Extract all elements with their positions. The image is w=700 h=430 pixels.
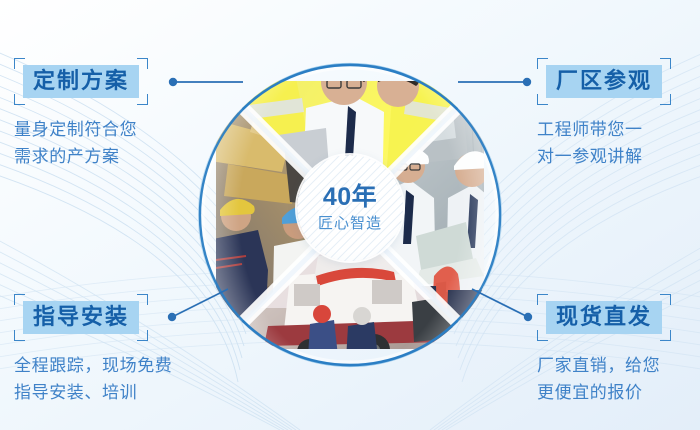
feature-description-line: 量身定制符合您 <box>14 116 148 144</box>
bracket-corner-icon <box>137 294 148 305</box>
feature-title: 厂区参观 <box>556 68 652 93</box>
connector-dot-top-left <box>169 78 177 86</box>
bracket-corner-icon <box>660 58 671 69</box>
feature-description-line: 工程师带您一 <box>537 116 671 144</box>
feature-in-stock-shipping[interactable]: 现货直发 厂家直销，给您 更便宜的报价 <box>537 294 671 407</box>
tag-highlight: 厂区参观 <box>546 65 662 98</box>
bracket-corner-icon <box>660 94 671 105</box>
bracket-corner-icon <box>537 58 548 69</box>
poster-canvas: 40年 匠心智造 定制方案 量身定制符合您 需 <box>0 0 700 430</box>
feature-tag-installation-guidance: 指导安装 <box>14 294 148 341</box>
feature-installation-guidance[interactable]: 指导安装 全程跟踪，现场免费 指导安装、培训 <box>14 294 172 407</box>
feature-description: 全程跟踪，现场免费 指导安装、培训 <box>14 352 172 407</box>
bracket-corner-icon <box>14 58 25 69</box>
feature-custom-solution[interactable]: 定制方案 量身定制符合您 需求的产方案 <box>14 58 148 171</box>
bracket-corner-icon <box>137 94 148 105</box>
bracket-corner-icon <box>660 330 671 341</box>
bracket-corner-icon <box>14 94 25 105</box>
connector-dot-top-right <box>523 78 531 86</box>
bracket-corner-icon <box>137 330 148 341</box>
connector-line-bottom-left <box>172 289 228 317</box>
feature-description: 量身定制符合您 需求的产方案 <box>14 116 148 171</box>
feature-description-line: 指导安装、培训 <box>14 379 172 407</box>
feature-description: 工程师带您一 对一参观讲解 <box>537 116 671 171</box>
bracket-corner-icon <box>14 330 25 341</box>
bracket-corner-icon <box>660 294 671 305</box>
tag-highlight: 定制方案 <box>23 65 139 98</box>
feature-description-line: 对一参观讲解 <box>537 143 671 171</box>
connector-dot-bottom-right <box>524 313 532 321</box>
feature-description-line: 需求的产方案 <box>14 143 148 171</box>
bracket-corner-icon <box>137 58 148 69</box>
tag-highlight: 现货直发 <box>546 301 662 334</box>
bracket-corner-icon <box>537 94 548 105</box>
bracket-corner-icon <box>14 294 25 305</box>
feature-description-line: 全程跟踪，现场免费 <box>14 352 172 380</box>
bracket-corner-icon <box>537 330 548 341</box>
feature-tag-factory-tour: 厂区参观 <box>537 58 671 105</box>
connector-line-bottom-right <box>472 289 528 317</box>
bracket-corner-icon <box>537 294 548 305</box>
feature-description-line: 更便宜的报价 <box>537 379 671 407</box>
feature-title: 现货直发 <box>556 304 652 329</box>
feature-factory-tour[interactable]: 厂区参观 工程师带您一 对一参观讲解 <box>537 58 671 171</box>
feature-description: 厂家直销，给您 更便宜的报价 <box>537 352 671 407</box>
feature-tag-custom-solution: 定制方案 <box>14 58 148 105</box>
feature-title: 定制方案 <box>33 68 129 93</box>
feature-description-line: 厂家直销，给您 <box>537 352 671 380</box>
feature-tag-in-stock-shipping: 现货直发 <box>537 294 671 341</box>
tag-highlight: 指导安装 <box>23 301 139 334</box>
feature-title: 指导安装 <box>33 304 129 329</box>
